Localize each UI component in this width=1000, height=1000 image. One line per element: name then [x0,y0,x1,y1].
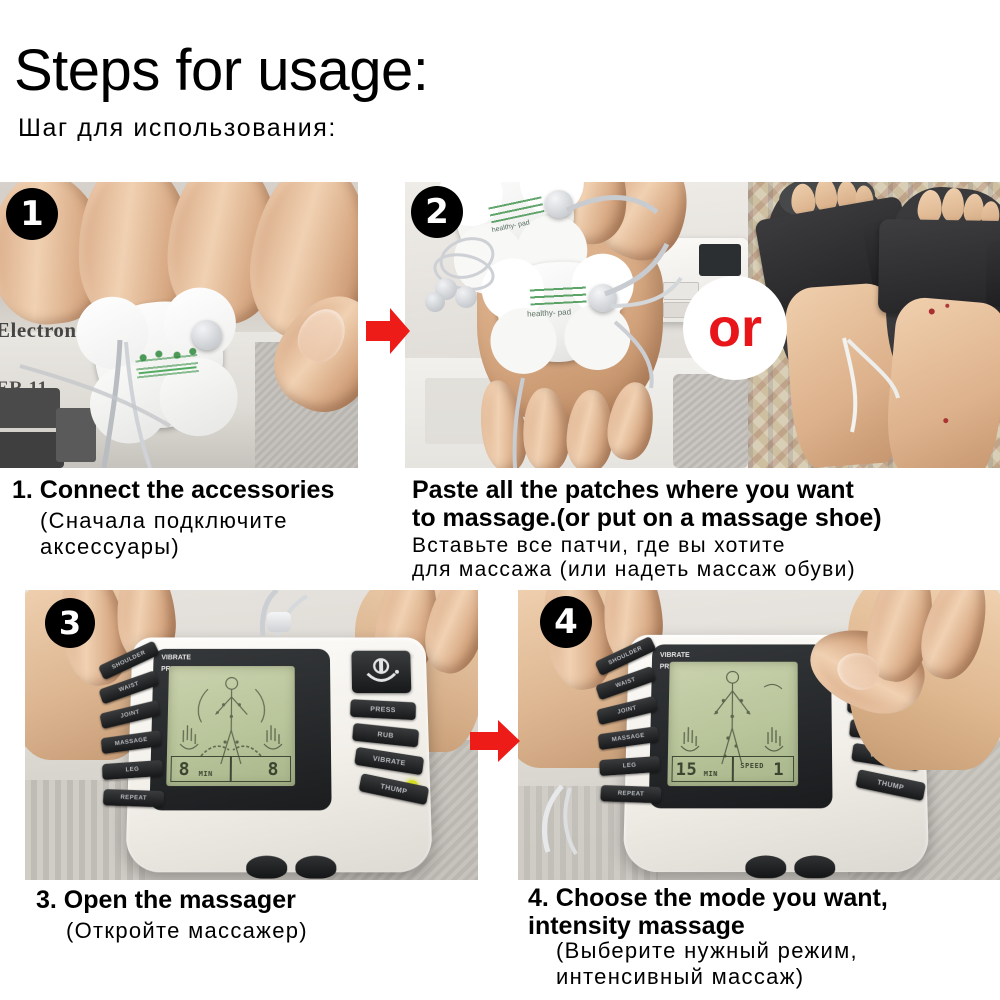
step-2-caption-en: Paste all the patches where you want to … [412,476,992,532]
right-arrow-icon-2 [470,718,520,764]
step-badge-3: 3 [45,598,95,648]
step-2-caption-ru: Вставьте все патчи, где вы хотите для ма… [412,534,1000,583]
step-1-caption-en: 1. Connect the accessories [12,476,362,504]
page-subtitle-russian: Шаг для использования: [18,116,337,141]
step-3-caption-ru: (Откройте массажер) [66,918,466,944]
step-4-caption-ru: (Выберите нужный режим, интенсивный масс… [556,938,996,989]
step-3-photo: VIBRATE PRESS THUMP RUB REPEAT [25,590,478,880]
step-badge-2: 2 [411,186,463,238]
photo-scene-open-massager: VIBRATE PRESS THUMP RUB REPEAT [25,590,478,880]
step-badge-1: 1 [6,188,58,240]
step-1-photo: Electronic pu ER 11 [0,182,358,468]
step-4-caption-en: 4. Choose the mode you want, intensity m… [528,884,988,940]
device-lead-wires [25,590,478,880]
page-title: Steps for usage: [14,42,428,100]
step-1-caption-ru: (Сначала подключите аксессуары) [40,508,370,559]
step-4-photo: VIBRATE PRESS THUMP RUB REPEAT [518,590,1000,880]
photo-scene-choose-mode: VIBRATE PRESS THUMP RUB REPEAT [518,590,1000,880]
step-3-caption-en: 3. Open the massager [36,886,456,914]
step-badge-4: 4 [540,596,592,648]
right-arrow-icon-1 [366,305,410,357]
or-badge: or [683,276,787,380]
